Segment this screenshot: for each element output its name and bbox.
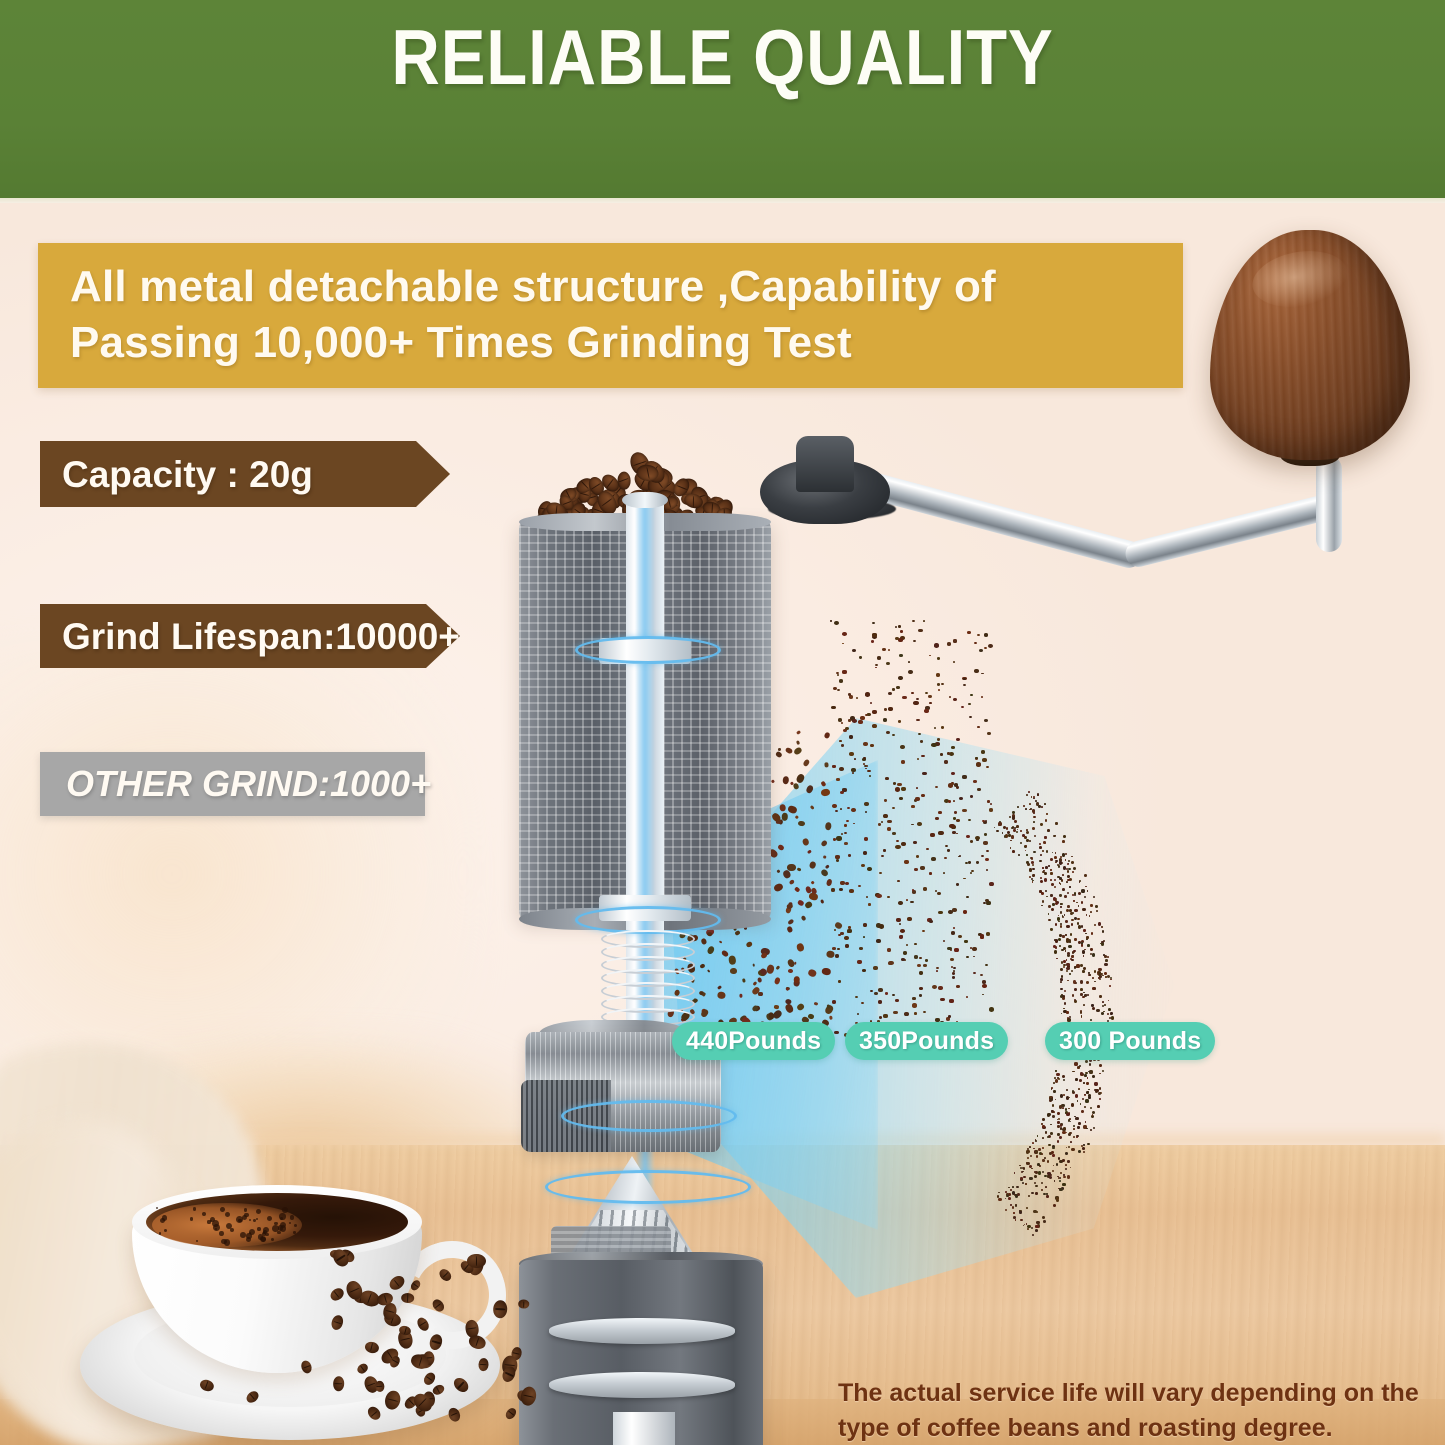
crema-bubble (164, 1229, 167, 1232)
coffee-ground-particle (1062, 935, 1064, 937)
coffee-ground-particle (883, 718, 887, 722)
coffee-ground-particle (892, 688, 895, 690)
coffee-ground-particle (986, 869, 988, 871)
coffee-ground-particle (1062, 1075, 1065, 1078)
coffee-bean (517, 1299, 528, 1308)
coffee-ground-particle (884, 799, 887, 801)
coffee-ground-particle (1050, 869, 1052, 871)
coffee-ground-particle (1060, 856, 1062, 858)
coffee-ground-particle (849, 735, 853, 738)
coffee-ground-particle (1050, 872, 1052, 874)
coffee-ground-particle (962, 809, 966, 813)
coffee-ground-particle (825, 950, 834, 958)
coffee-ground-particle (940, 753, 943, 755)
coffee-ground-particle (1020, 830, 1022, 832)
coffee-ground-particle (1014, 820, 1017, 823)
coffee-ground-particle (1017, 806, 1019, 808)
crema-bubble (244, 1208, 248, 1212)
coffee-ground-particle (1053, 1090, 1056, 1093)
coffee-ground-particle (864, 837, 869, 841)
crema-bubble (294, 1224, 297, 1227)
coffee-ground-particle (1044, 1157, 1046, 1159)
spec-tag-grind-lifespan-label: Grind Lifespan:10000+ (40, 618, 460, 655)
coffee-ground-particle (953, 698, 957, 701)
coffee-ground-particle (1066, 939, 1069, 942)
coffee-ground-particle (1053, 835, 1056, 838)
coffee-ground-particle (900, 745, 905, 749)
coffee-ground-particle (1081, 944, 1083, 946)
coffee-ground-particle (1056, 1197, 1059, 1200)
coffee-ground-particle (1066, 881, 1068, 883)
force-badge-350: 350Pounds (845, 1022, 1008, 1060)
coffee-ground-particle (977, 788, 981, 791)
crema-bubble (240, 1232, 246, 1238)
coffee-ground-particle (875, 664, 878, 666)
coffee-ground-particle (858, 885, 861, 887)
coffee-ground-particle (1082, 1147, 1085, 1150)
feature-banner-text: All metal detachable structure ,Capabili… (70, 259, 1165, 372)
coffee-ground-particle (1047, 1175, 1050, 1178)
crema-bubble (256, 1209, 261, 1214)
coffee-ground-particle (1032, 868, 1034, 870)
coffee-ground-particle (1046, 813, 1048, 815)
coffee-ground-particle (1052, 1154, 1055, 1157)
coffee-ground-particle (1043, 841, 1046, 844)
coffee-ground-particle (1034, 1182, 1036, 1184)
coffee-ground-particle (1094, 970, 1096, 972)
crema-bubble (156, 1207, 158, 1209)
coffee-ground-particle (969, 716, 972, 718)
coffee-ground-particle (1005, 1198, 1006, 1199)
page-title: RELIABLE QUALITY (101, 18, 1344, 96)
coffee-ground-particle (1074, 892, 1076, 894)
coffee-ground-particle (1082, 950, 1085, 953)
coffee-ground-particle (1066, 1089, 1068, 1091)
coffee-ground-particle (911, 692, 913, 694)
coffee-ground-particle (1040, 823, 1043, 826)
coffee-ground-particle (1040, 854, 1042, 856)
coffee-ground-particle (973, 780, 977, 783)
coffee-ground-particle (1033, 796, 1035, 798)
coffee-ground-particle (1027, 863, 1030, 866)
coffee-ground-particle (913, 841, 917, 844)
coffee-ground-particle (1082, 970, 1084, 972)
coffee-ground-particle (900, 630, 903, 632)
coffee-ground-particle (1020, 1177, 1023, 1180)
coffee-ground-particle (1072, 871, 1074, 873)
coffee-ground-particle (895, 999, 899, 1002)
coffee-ground-particle (1059, 894, 1062, 897)
coffee-ground-particle (1063, 1174, 1065, 1176)
crema-bubble (225, 1212, 230, 1217)
coffee-ground-particle (874, 992, 878, 995)
coffee-ground-particle (1067, 1160, 1070, 1163)
coffee-ground-particle (1080, 1072, 1083, 1075)
coffee-ground-particle (857, 960, 862, 964)
coffee-ground-particle (959, 797, 963, 800)
coffee-ground-particle (1088, 1071, 1089, 1072)
disclaimer-text: The actual service life will vary depend… (838, 1376, 1428, 1445)
coffee-ground-particle (1034, 1175, 1037, 1178)
coffee-ground-particle (1090, 904, 1093, 907)
coffee-ground-particle (919, 971, 923, 975)
coffee-ground-particle (1060, 906, 1062, 908)
crema-bubble (221, 1239, 227, 1245)
coffee-ground-particle (923, 620, 925, 622)
coffee-ground-particle (954, 948, 959, 952)
coffee-ground-particle (1064, 990, 1066, 992)
coffee-ground-particle (1078, 1150, 1081, 1153)
coffee-ground-particle (952, 972, 955, 975)
coffee-ground-particle (1080, 964, 1083, 967)
coffee-ground-particle (937, 683, 941, 686)
coffee-ground-particle (1054, 950, 1057, 953)
coffee-ground-particle (1055, 1070, 1057, 1072)
coffee-ground-particle (1075, 1117, 1078, 1120)
coffee-ground-particle (1085, 994, 1087, 996)
coffee-ground-particle (895, 845, 900, 849)
coffee-ground-particle (876, 894, 881, 898)
coffee-ground-particle (1048, 919, 1050, 921)
coffee-ground-particle (1046, 896, 1047, 897)
coffee-ground-particle (856, 697, 859, 699)
coffee-ground-particle (898, 901, 903, 905)
coffee-ground-particle (1010, 1204, 1012, 1206)
coffee-ground-particle (1029, 1146, 1031, 1148)
coffee-ground-particle (845, 882, 849, 885)
coffee-ground-particle (836, 859, 840, 862)
coffee-ground-particle (1082, 996, 1084, 998)
coffee-grinder-exploded (505, 420, 785, 1430)
coffee-ground-particle (1042, 1159, 1045, 1162)
coffee-ground-particle (974, 669, 979, 673)
coffee-ground-particle (841, 833, 843, 835)
coffee-ground-particle (832, 804, 837, 808)
coffee-ground-particle (953, 800, 955, 802)
coffee-ground-particle (884, 708, 887, 710)
coffee-ground-particle (953, 967, 956, 969)
coffee-ground-particle (958, 935, 962, 938)
blue-highlight-ring-upper (575, 636, 721, 664)
coffee-ground-particle (893, 1011, 897, 1015)
coffee-ground-particle (947, 849, 950, 852)
coffee-ground-particle (1025, 1183, 1027, 1185)
coffee-ground-particle (1033, 1148, 1034, 1149)
coffee-ground-particle (919, 957, 921, 959)
coffee-ground-particle (839, 740, 841, 742)
coffee-ground-particle (940, 998, 944, 1002)
coffee-ground-particle (1044, 836, 1046, 838)
coffee-ground-particle (1066, 1011, 1068, 1013)
coffee-ground-particle (1048, 905, 1051, 908)
coffee-ground-particle (831, 706, 836, 710)
shaft-spring (601, 930, 691, 1026)
coffee-ground-particle (1077, 922, 1080, 925)
coffee-ground-particle (1055, 900, 1057, 902)
coffee-ground-particle (878, 988, 883, 992)
coffee-ground-particle (947, 752, 950, 754)
coffee-ground-particle (1083, 955, 1084, 956)
coffee-ground-particle (1059, 877, 1062, 880)
coffee-ground-particle (1045, 1186, 1047, 1188)
coffee-ground-particle (966, 956, 968, 958)
crank-hub-post (796, 436, 854, 492)
coffee-ground-particle (1037, 1163, 1040, 1166)
coffee-ground-particle (814, 1001, 819, 1005)
coffee-ground-particle (831, 888, 835, 891)
coffee-ground-particle (1035, 1140, 1037, 1142)
coffee-ground-particle (1032, 881, 1033, 882)
coffee-ground-particle (1057, 1112, 1060, 1115)
coffee-ground-particle (1041, 1153, 1043, 1155)
coffee-ground-particle (1012, 1206, 1014, 1208)
coffee-ground-particle (1051, 1087, 1053, 1089)
coffee-ground-particle (1101, 1012, 1104, 1015)
coffee-ground-particle (1071, 1148, 1074, 1151)
coffee-ground-particle (1065, 1164, 1067, 1166)
coffee-ground-particle (989, 808, 994, 812)
coffee-ground-particle (899, 797, 903, 800)
coffee-ground-particle (1063, 1008, 1065, 1010)
crema-bubble (238, 1219, 241, 1222)
coffee-ground-particle (1077, 1100, 1079, 1102)
coffee-ground-particle (904, 860, 909, 864)
coffee-ground-particle (1062, 874, 1064, 876)
shaft-top-cap (622, 492, 668, 508)
coffee-ground-particle (947, 642, 952, 646)
coffee-ground-particle (1034, 835, 1036, 837)
coffee-ground-particle (845, 944, 849, 947)
coffee-ground-particle (1051, 883, 1054, 886)
force-badge-300: 300 Pounds (1045, 1022, 1215, 1060)
coffee-ground-particle (970, 694, 972, 696)
coffee-ground-particle (1042, 1137, 1044, 1139)
coffee-ground-particle (943, 872, 945, 874)
coffee-ground-particle (1059, 1136, 1062, 1139)
coffee-ground-particle (844, 936, 849, 940)
coffee-ground-particle (832, 765, 835, 768)
coffee-ground-particle (989, 1007, 994, 1011)
blue-highlight-ring-cone (561, 1100, 737, 1132)
coffee-ground-particle (1058, 1078, 1060, 1080)
coffee-ground-particle (1026, 1207, 1028, 1209)
coffee-ground-particle (1083, 1004, 1085, 1006)
coffee-ground-particle (1085, 1121, 1087, 1123)
coffee-ground-particle (1062, 1159, 1065, 1162)
coffee-ground-particle (1059, 1188, 1062, 1191)
crema-bubble (293, 1231, 296, 1234)
coffee-ground-particle (888, 649, 890, 651)
coffee-ground-particle (1074, 966, 1076, 968)
coffee-ground-particle (834, 1031, 838, 1035)
crema-bubble (263, 1230, 267, 1234)
coffee-ground-particle (1023, 805, 1025, 807)
coffee-ground-particle (914, 955, 918, 958)
coffee-ground-particle (1058, 865, 1060, 867)
coffee-ground-particle (1029, 1177, 1032, 1180)
coffee-ground-particle (900, 929, 905, 933)
crema-bubble (193, 1207, 196, 1210)
coffee-ground-particle (881, 855, 884, 858)
coffee-ground-particle (923, 964, 927, 967)
crank-arm-lower (1123, 491, 1343, 569)
coffee-ground-particle (1059, 945, 1061, 947)
coffee-ground-particle (901, 842, 906, 846)
coffee-ground-particle (1086, 1082, 1088, 1084)
coffee-ground-particle (913, 701, 918, 705)
coffee-ground-particle (838, 718, 843, 722)
spec-tag-capacity: Capacity : 20g (40, 441, 450, 507)
coffee-ground-particle (953, 639, 957, 642)
crema-bubble (246, 1237, 251, 1242)
force-badge-440: 440Pounds (672, 1022, 835, 1060)
coffee-ground-particle (1044, 803, 1046, 805)
coffee-ground-particle (948, 1015, 952, 1018)
coffee-ground-particle (1033, 851, 1035, 853)
coffee-ground-particle (1102, 930, 1105, 933)
coffee-ground-particle (860, 716, 865, 720)
coffee-ground-particle (879, 872, 882, 874)
coffee-ground-particle (1077, 1126, 1080, 1129)
coffee-ground-particle (1012, 1186, 1014, 1188)
coffee-ground-particle (915, 797, 920, 801)
crema-bubble (261, 1237, 266, 1242)
coffee-ground-particle (888, 961, 893, 965)
coffee-ground-particle (972, 947, 977, 951)
coffee-ground-particle (1041, 1123, 1043, 1125)
coffee-ground-particle (1063, 1127, 1066, 1130)
coffee-ground-particle (1052, 1115, 1055, 1118)
spec-tag-other-grind-label: OTHER GRIND:1000+ (40, 766, 431, 802)
coffee-ground-particle (1052, 903, 1055, 906)
coffee-ground-particle (1070, 1141, 1072, 1143)
coffee-ground-particle (934, 643, 939, 647)
coffee-ground-particle (1069, 973, 1071, 975)
coffee-ground-particle (1028, 1195, 1030, 1197)
coffee-ground-particle (956, 819, 960, 822)
coffee-ground-particle (796, 740, 800, 745)
coffee-ground-particle (1048, 865, 1050, 867)
coffee-ground-particle (839, 679, 843, 683)
coffee-ground-particle (1052, 1104, 1055, 1107)
coffee-cup-scene (70, 1185, 540, 1445)
coffee-ground-particle (1078, 925, 1081, 928)
coffee-ground-particle (886, 662, 890, 665)
coffee-ground-particle (835, 810, 838, 812)
coffee-ground-particle (1060, 1172, 1062, 1174)
coffee-ground-particle (1091, 1004, 1093, 1006)
coffee-ground-particle (1050, 879, 1052, 881)
coffee-ground-particle (879, 924, 884, 928)
coffee-ground-particle (863, 936, 865, 938)
coffee-ground-particle (1039, 843, 1041, 845)
coffee-ground-particle (1078, 941, 1081, 944)
coffee-ground-particle (848, 719, 851, 721)
coffee-ground-particle (1073, 1125, 1075, 1127)
coffee-ground-particle (1078, 1088, 1080, 1090)
coffee-ground-particle (837, 689, 840, 692)
coffee-ground-particle (1047, 1113, 1050, 1116)
coffee-ground-particle (844, 824, 847, 826)
coffee-ground-particle (1074, 909, 1077, 912)
coffee-ground-particle (1050, 1098, 1053, 1101)
coffee-ground-particle (1061, 961, 1063, 963)
coffee-ground-particle (920, 866, 925, 870)
coffee-ground-particle (892, 807, 895, 809)
coffee-ground-particle (1026, 831, 1029, 834)
coffee-ground-particle (949, 999, 953, 1003)
coffee-ground-particle (837, 948, 839, 950)
coffee-ground-particle (936, 673, 940, 677)
coffee-ground-particle (1099, 1098, 1101, 1100)
coffee-ground-particle (1083, 1082, 1085, 1084)
crema-bubble (219, 1231, 223, 1235)
coffee-ground-particle (1085, 886, 1087, 888)
crema-bubble (196, 1240, 198, 1242)
coffee-ground-particle (1098, 922, 1101, 925)
coffee-ground-particle (859, 656, 862, 658)
coffee-ground-particle (851, 808, 856, 812)
coffee-ground-particle (898, 625, 901, 627)
coffee-ground-particle (836, 836, 841, 840)
coffee-ground-particle (1032, 827, 1035, 830)
coffee-ground-particle (1078, 892, 1081, 895)
coffee-ground-particle (865, 692, 870, 696)
coffee-ground-particle (872, 710, 877, 714)
spec-tag-other-grind: OTHER GRIND:1000+ (40, 752, 425, 816)
coffee-ground-particle (976, 861, 979, 863)
coffee-ground-particle (1097, 973, 1099, 975)
coffee-ground-particle (1057, 917, 1060, 920)
coffee-ground-particle (1035, 1150, 1038, 1153)
coffee-ground-particle (984, 633, 989, 637)
coffee-ground-particle (996, 830, 998, 832)
coffee-ground-particle (1065, 934, 1066, 935)
coffee-ground-particle (1063, 1094, 1065, 1096)
coffee-ground-particle (1042, 1216, 1045, 1219)
coffee-ground-particle (1062, 888, 1065, 891)
coffee-ground-particle (1079, 1079, 1082, 1082)
spec-tag-capacity-label: Capacity : 20g (40, 456, 313, 493)
magnet-disc-lower (549, 1372, 735, 1398)
coffee-ground-particle (1024, 836, 1026, 838)
coffee-ground-particle (840, 791, 844, 794)
coffee-ground-particle (1099, 995, 1102, 998)
magnet-stem (613, 1412, 675, 1445)
coffee-ground-particle (1035, 1192, 1038, 1195)
coffee-ground-particle (1041, 1189, 1043, 1191)
coffee-ground-particle (883, 814, 888, 818)
spec-tag-grind-lifespan: Grind Lifespan:10000+ (40, 604, 460, 668)
coffee-ground-particle (1017, 1193, 1020, 1196)
coffee-ground-particle (1098, 1092, 1101, 1095)
coffee-ground-particle (832, 947, 836, 950)
coffee-ground-particle (1039, 846, 1042, 849)
coffee-ground-particle (823, 856, 826, 859)
coffee-ground-particle (951, 746, 955, 749)
coffee-ground-particle (1066, 967, 1069, 970)
coffee-ground-particle (862, 969, 866, 972)
coffee-ground-particle (1055, 822, 1057, 824)
coffee-ground-particle (1083, 1144, 1085, 1146)
crema-bubble (257, 1227, 261, 1231)
coffee-ground-particle (1005, 1209, 1007, 1211)
coffee-ground-particle (1038, 1171, 1041, 1174)
coffee-ground-particle (1061, 879, 1063, 881)
coffee-ground-particle (1032, 809, 1035, 812)
coffee-ground-particle (914, 943, 917, 945)
coffee-ground-particle (1097, 1105, 1100, 1108)
